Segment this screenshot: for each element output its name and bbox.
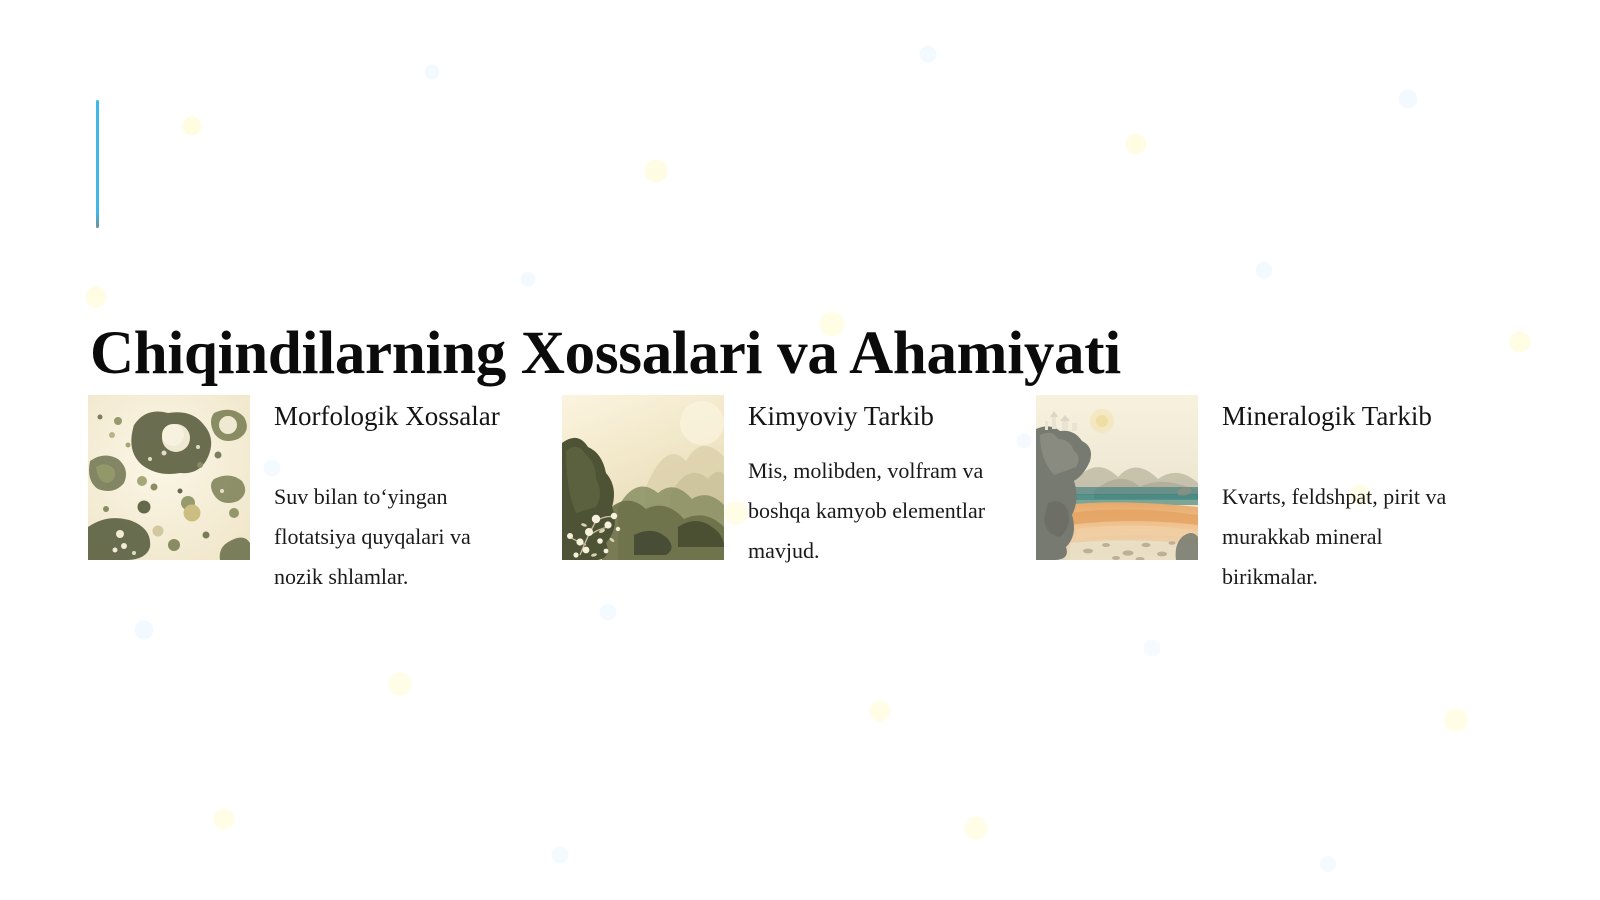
flotation-tailings-illustration: [88, 395, 250, 560]
column-text-block: Mineralogik Tarkib Kvarts, feldshpat, pi…: [1222, 395, 1472, 597]
column-heading: Morfologik Xossalar: [274, 401, 524, 431]
misty-mountain-rocks-thumbnail: [562, 395, 724, 560]
slide-canvas: Chiqindilarning Xossalari va Ahamiyati: [0, 0, 1600, 900]
column-body: Mis, molibden, volfram va boshqa kamyob …: [748, 451, 998, 571]
column-text-block: Morfologik Xossalar Suv bilan toʻyingan …: [274, 395, 524, 597]
coastal-cliff-illustration: [1036, 395, 1198, 560]
column-text-block: Kimyoviy Tarkib Mis, molibden, volfram v…: [748, 395, 998, 571]
flotation-tailings-microscope-thumbnail: [88, 395, 250, 560]
feature-column-mineralogik-tarkib: Mineralogik Tarkib Kvarts, feldshpat, pi…: [1036, 395, 1472, 597]
column-body: Suv bilan toʻyingan flotatsiya quyqalari…: [274, 477, 524, 597]
accent-bar: [96, 100, 99, 228]
feature-column-kimyoviy-tarkib: Kimyoviy Tarkib Mis, molibden, volfram v…: [562, 395, 998, 597]
column-heading: Kimyoviy Tarkib: [748, 401, 998, 431]
page-title: Chiqindilarning Xossalari va Ahamiyati: [90, 322, 1121, 386]
feature-column-morfologik-xossalar: Morfologik Xossalar Suv bilan toʻyingan …: [88, 395, 524, 597]
column-heading: Mineralogik Tarkib: [1222, 401, 1472, 431]
misty-mountain-illustration: [562, 395, 724, 560]
column-body: Kvarts, feldshpat, pirit va murakkab min…: [1222, 477, 1472, 597]
coastal-cliff-beach-thumbnail: [1036, 395, 1198, 560]
feature-columns: Morfologik Xossalar Suv bilan toʻyingan …: [88, 395, 1528, 597]
